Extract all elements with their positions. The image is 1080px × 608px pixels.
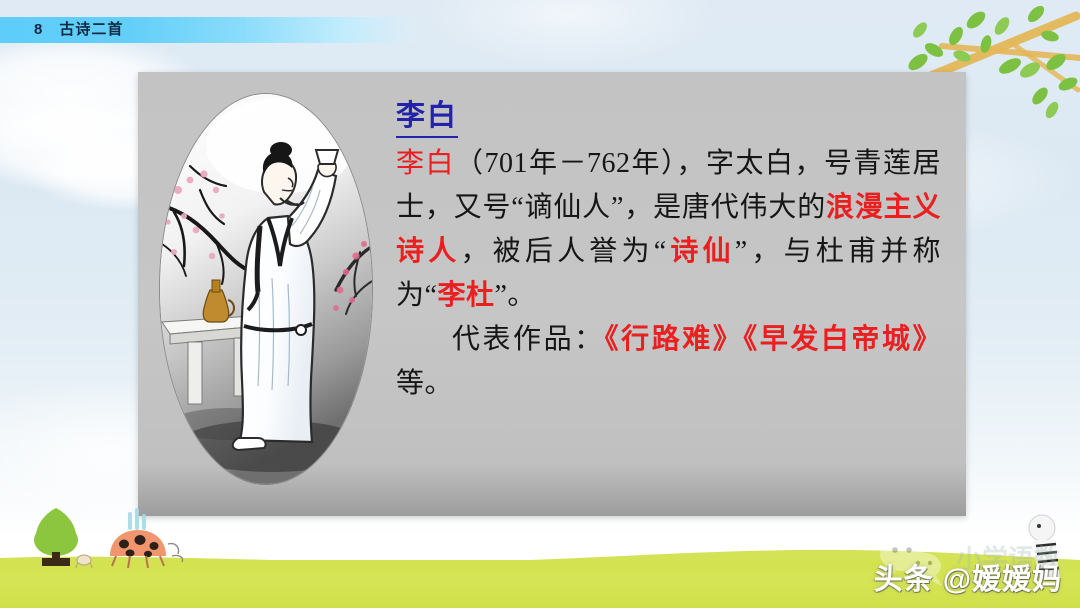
biography-text-block: 李白 李白（701年－762年），字太白，号青莲居士，又号“谪仙人”，是唐代伟大… — [396, 96, 941, 406]
name-highlight: 李白 — [396, 148, 455, 179]
libai-portrait — [160, 94, 372, 484]
bio-text-4: ”。 — [494, 280, 535, 311]
biography-paragraph-1: 李白（701年－762年），字太白，号青莲居士，又号“谪仙人”，是唐代伟大的浪漫… — [396, 142, 941, 318]
content-panel: 李白 李白（701年－762年），字太白，号青莲居士，又号“谪仙人”，是唐代伟大… — [138, 72, 966, 516]
watermark-brand: 头条 @嫒嫒妈 — [852, 560, 1062, 600]
bio-text-2: ，被后人誉为“ — [460, 236, 666, 267]
small-bug-icon — [76, 555, 92, 568]
biography-paragraph-2: 代表作品：《行路难》《早发白帝城》等。 — [396, 318, 941, 406]
ladybug-icon — [76, 508, 183, 568]
cloud-decoration — [420, 0, 720, 70]
subject-heading: 李白 — [396, 96, 458, 138]
slide-root: 8 古诗二首 — [0, 0, 1080, 608]
works-tail: 等。 — [396, 368, 453, 399]
shixian-highlight: 诗仙 — [667, 236, 735, 267]
works-highlight: 《行路难》《早发白帝城》 — [605, 324, 941, 355]
lesson-title: 8 古诗二首 — [34, 19, 123, 41]
works-label: 代表作品： — [452, 324, 605, 355]
lawn-decoration — [12, 500, 252, 578]
libai-portrait-art — [160, 94, 372, 484]
tree-icon — [34, 508, 78, 566]
lidu-highlight: 李杜 — [437, 280, 494, 311]
